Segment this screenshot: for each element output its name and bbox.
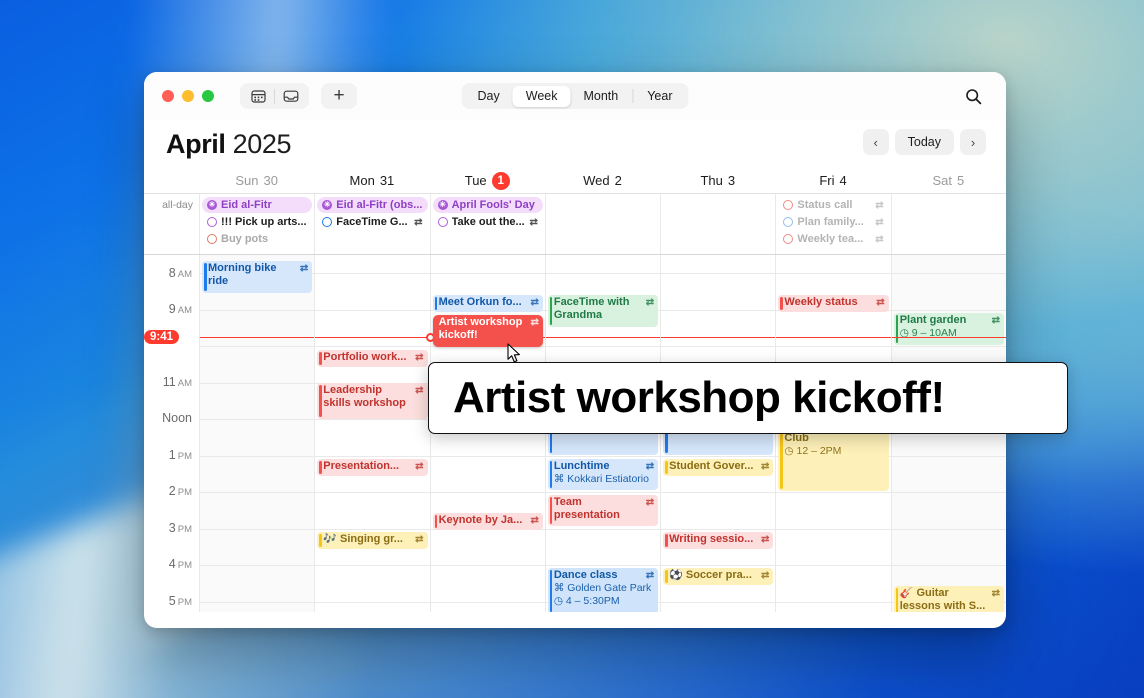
hour-gridline bbox=[892, 310, 1006, 311]
holiday-star-icon: ✳ bbox=[207, 200, 217, 210]
all-day-column-4[interactable] bbox=[660, 194, 775, 254]
view-toggle-group bbox=[240, 83, 309, 109]
event-title-row: Keynote by Ja...⇄ bbox=[439, 514, 539, 527]
view-divider bbox=[632, 89, 633, 103]
all-day-column-2[interactable]: ✳April Fools' DayTake out the...⇄ bbox=[430, 194, 545, 254]
all-day-event[interactable]: ✳Eid al-Fitr bbox=[202, 197, 312, 213]
time-hour: 9 bbox=[169, 302, 176, 316]
calendar-event[interactable]: Plant garden⇄◷ 9 – 10AM bbox=[894, 313, 1004, 345]
time-label: 5PM bbox=[169, 594, 192, 608]
all-day-event[interactable]: Status call⇄ bbox=[778, 197, 888, 213]
calendar-event[interactable]: FaceTime with Grandma⇄ bbox=[548, 295, 658, 327]
event-color-bar bbox=[896, 588, 899, 612]
event-title: Lunchtime bbox=[554, 460, 643, 473]
event-title-row: Artist workshop kickoff!⇄ bbox=[439, 316, 539, 342]
day-name: Tue bbox=[465, 173, 487, 188]
event-title: Portfolio work... bbox=[323, 351, 412, 364]
event-title-row: Student Gover...⇄ bbox=[669, 460, 769, 473]
event-color-bar bbox=[204, 263, 207, 291]
all-day-column-0[interactable]: ✳Eid al-Fitr!!! Pick up arts...Buy pots bbox=[199, 194, 314, 254]
hour-gridline bbox=[315, 346, 429, 347]
hour-gridline bbox=[892, 456, 1006, 457]
view-tab-year[interactable]: Year bbox=[634, 86, 685, 107]
event-color-bar bbox=[435, 297, 438, 310]
time-label: 9AM bbox=[169, 302, 192, 316]
repeat-icon: ⇄ bbox=[646, 460, 654, 473]
event-title: Presentation... bbox=[323, 460, 412, 473]
event-title: Weekly status bbox=[784, 296, 873, 309]
year-label: 2025 bbox=[233, 129, 291, 159]
calendar-event[interactable]: Meet Orkun fo...⇄ bbox=[433, 295, 543, 312]
event-color-bar bbox=[550, 497, 553, 524]
event-title: Meet Orkun fo... bbox=[439, 296, 528, 309]
hour-gridline bbox=[661, 456, 775, 457]
event-title: 🎸 Guitar lessons with S... bbox=[900, 587, 989, 612]
hour-gridline bbox=[546, 529, 660, 530]
calendar-event[interactable]: 🎸 Guitar lessons with S...⇄ bbox=[894, 586, 1004, 612]
all-day-column-1[interactable]: ✳Eid al-Fitr (obs...FaceTime G...⇄ bbox=[314, 194, 429, 254]
repeat-icon: ⇄ bbox=[300, 262, 308, 275]
repeat-icon: ⇄ bbox=[646, 569, 654, 582]
repeat-icon: ⇄ bbox=[876, 296, 884, 309]
calendar-event[interactable]: Team presentation⇄ bbox=[548, 495, 658, 526]
event-title: Student Gover... bbox=[669, 460, 758, 473]
day-header-sun[interactable]: Sun30 bbox=[199, 168, 314, 193]
day-name: Sat bbox=[932, 173, 952, 188]
zoom-button[interactable] bbox=[202, 90, 214, 102]
repeat-icon: ⇄ bbox=[992, 587, 1000, 600]
event-title-row: Dance class⇄ bbox=[554, 569, 654, 582]
today-badge: 1 bbox=[492, 172, 510, 190]
event-title-row: Plant garden⇄ bbox=[900, 314, 1000, 327]
window-titlebar: + Day Week Month Year bbox=[144, 72, 1006, 120]
time-label: 4PM bbox=[169, 557, 192, 571]
current-time-line bbox=[315, 337, 429, 338]
hour-gridline bbox=[315, 492, 429, 493]
event-title: 🎶 Singing gr... bbox=[323, 533, 412, 546]
day-number: 30 bbox=[263, 173, 277, 188]
hour-gridline bbox=[315, 565, 429, 566]
event-color-bar bbox=[550, 461, 553, 488]
repeat-icon: ⇄ bbox=[415, 460, 423, 473]
hour-gridline bbox=[546, 492, 660, 493]
repeat-icon: ⇄ bbox=[761, 569, 769, 582]
hour-gridline bbox=[892, 529, 1006, 530]
time-ampm: AM bbox=[178, 305, 192, 316]
time-label: 3PM bbox=[169, 521, 192, 535]
event-title-row: Writing sessio...⇄ bbox=[669, 533, 769, 546]
time-hour: 3 bbox=[169, 521, 176, 535]
repeat-icon: ⇄ bbox=[415, 533, 423, 546]
repeat-icon: ⇄ bbox=[529, 217, 537, 228]
reminder-circle-icon bbox=[783, 234, 793, 244]
repeat-icon: ⇄ bbox=[530, 514, 538, 527]
hour-gridline bbox=[661, 602, 775, 603]
all-day-event[interactable]: ✳April Fools' Day bbox=[433, 197, 543, 213]
reminder-circle-icon bbox=[783, 217, 793, 227]
hour-gridline bbox=[776, 346, 890, 347]
all-day-columns: ✳Eid al-Fitr!!! Pick up arts...Buy pots✳… bbox=[199, 194, 1006, 254]
calendar-event[interactable]: Lunchtime⇄⌘ Kokkari Estiatorio bbox=[548, 459, 658, 490]
all-day-event[interactable]: Buy pots bbox=[202, 231, 312, 247]
time-axis: 8AM9AM11AMNoon1PM2PM3PM4PM5PM bbox=[144, 255, 199, 612]
repeat-icon: ⇄ bbox=[415, 351, 423, 364]
hour-gridline bbox=[200, 565, 314, 566]
time-hour: 8 bbox=[169, 266, 176, 280]
event-title: ⚽ Soccer pra... bbox=[669, 569, 758, 582]
hour-gridline bbox=[200, 456, 314, 457]
time-label: 8AM bbox=[169, 266, 192, 280]
all-day-label: all-day bbox=[144, 194, 199, 254]
event-time: ◷ 4 – 5:30PM bbox=[554, 595, 654, 608]
hour-gridline bbox=[546, 565, 660, 566]
search-icon[interactable] bbox=[958, 81, 988, 111]
day-column-sun30[interactable]: Morning bike ride⇄ bbox=[199, 255, 314, 612]
calendar-event[interactable]: ⚽ Soccer pra...⇄ bbox=[663, 568, 773, 585]
event-color-bar bbox=[896, 315, 899, 343]
repeat-icon: ⇄ bbox=[530, 296, 538, 309]
event-title: Team presentation bbox=[554, 496, 643, 522]
hour-gridline bbox=[315, 602, 429, 603]
current-time-pill: 9:41 bbox=[144, 330, 179, 344]
all-day-event-title: Plan family... bbox=[797, 216, 871, 228]
event-title: Morning bike ride bbox=[208, 262, 297, 288]
all-day-event-title: Take out the... bbox=[452, 216, 526, 228]
hour-gridline bbox=[315, 310, 429, 311]
event-title: Plant garden bbox=[900, 314, 989, 327]
minimize-button[interactable] bbox=[182, 90, 194, 102]
event-color-bar bbox=[665, 534, 668, 547]
time-hour: 4 bbox=[169, 557, 176, 571]
event-title: Writing sessio... bbox=[669, 533, 758, 546]
repeat-icon: ⇄ bbox=[530, 316, 538, 329]
hour-gridline bbox=[546, 346, 660, 347]
event-title: Dance class bbox=[554, 569, 643, 582]
hour-gridline bbox=[315, 273, 429, 274]
reminder-completed-icon bbox=[207, 234, 217, 244]
hour-gridline bbox=[546, 273, 660, 274]
hour-gridline bbox=[776, 529, 890, 530]
day-header-sat[interactable]: Sat5 bbox=[891, 168, 1006, 193]
all-day-event[interactable]: Weekly tea...⇄ bbox=[778, 231, 888, 247]
hour-gridline bbox=[892, 346, 1006, 347]
hour-gridline bbox=[546, 456, 660, 457]
time-ampm: AM bbox=[178, 269, 192, 280]
time-ampm: PM bbox=[178, 487, 192, 498]
event-title-row: 🎶 Singing gr...⇄ bbox=[323, 533, 423, 546]
time-label: Noon bbox=[162, 411, 192, 425]
month-label: April bbox=[166, 129, 226, 159]
all-day-event[interactable]: ✳Eid al-Fitr (obs... bbox=[317, 197, 427, 213]
hour-gridline bbox=[661, 492, 775, 493]
all-day-event[interactable]: !!! Pick up arts... bbox=[202, 214, 312, 230]
repeat-icon: ⇄ bbox=[414, 217, 422, 228]
repeat-icon: ⇄ bbox=[646, 496, 654, 509]
event-color-bar bbox=[780, 297, 783, 310]
calendar-event[interactable]: Presentation...⇄ bbox=[317, 459, 427, 476]
holiday-star-icon: ✳ bbox=[438, 200, 448, 210]
hour-gridline bbox=[776, 492, 890, 493]
hour-gridline bbox=[661, 310, 775, 311]
event-color-bar bbox=[319, 352, 322, 365]
all-day-event[interactable]: FaceTime G...⇄ bbox=[317, 214, 427, 230]
time-ampm: PM bbox=[178, 597, 192, 608]
time-hour: 5 bbox=[169, 594, 176, 608]
next-week-button[interactable]: › bbox=[960, 129, 986, 155]
day-column-mon31[interactable]: Portfolio work...⇄Leadership skills work… bbox=[314, 255, 429, 612]
view-tab-week[interactable]: Week bbox=[513, 86, 571, 107]
calendar-event[interactable]: Morning bike ride⇄ bbox=[202, 261, 312, 293]
traffic-light-group bbox=[162, 90, 214, 102]
hour-gridline bbox=[315, 456, 429, 457]
event-title-row: Morning bike ride⇄ bbox=[208, 262, 308, 288]
calendar-event[interactable]: Weekly status⇄ bbox=[778, 295, 888, 312]
calendar-header: April 2025 ‹ Today › bbox=[144, 120, 1006, 168]
event-title-row: 🎸 Guitar lessons with S...⇄ bbox=[900, 587, 1000, 612]
all-day-column-5[interactable]: Status call⇄Plan family...⇄Weekly tea...… bbox=[775, 194, 890, 254]
inbox-icon[interactable] bbox=[275, 85, 307, 107]
hour-gridline bbox=[661, 529, 775, 530]
event-subtitle: ⌘ Golden Gate Park bbox=[554, 582, 654, 595]
reminder-circle-icon bbox=[438, 217, 448, 227]
all-day-event[interactable]: Take out the...⇄ bbox=[433, 214, 543, 230]
day-header-row: Sun30Mon31Tue1Wed2Thu3Fri4Sat5 bbox=[144, 168, 1006, 194]
hour-gridline bbox=[431, 602, 545, 603]
event-title: FaceTime with Grandma bbox=[554, 296, 643, 322]
day-number: 2 bbox=[615, 173, 622, 188]
time-ampm: PM bbox=[178, 524, 192, 535]
event-color-bar bbox=[319, 461, 322, 474]
current-time-line bbox=[892, 337, 1006, 338]
time-hour: Noon bbox=[162, 411, 192, 425]
time-ampm: AM bbox=[178, 378, 192, 389]
reminder-circle-icon bbox=[207, 217, 217, 227]
hour-gridline bbox=[431, 492, 545, 493]
day-header-tue[interactable]: Tue1 bbox=[430, 168, 545, 193]
all-day-event[interactable]: Plan family...⇄ bbox=[778, 214, 888, 230]
time-label: 2PM bbox=[169, 484, 192, 498]
hour-gridline bbox=[200, 383, 314, 384]
day-name: Fri bbox=[819, 173, 834, 188]
calendar-event[interactable]: 🎶 Singing gr...⇄ bbox=[317, 532, 427, 549]
all-day-event-title: Status call bbox=[797, 199, 871, 211]
hour-gridline bbox=[200, 419, 314, 420]
hour-gridline bbox=[431, 273, 545, 274]
current-time-line bbox=[661, 337, 775, 338]
add-event-button[interactable]: + bbox=[321, 83, 357, 109]
hour-gridline bbox=[661, 346, 775, 347]
calendar-icon[interactable] bbox=[242, 85, 274, 107]
hour-gridline bbox=[200, 602, 314, 603]
hour-gridline bbox=[776, 602, 890, 603]
previous-week-button[interactable]: ‹ bbox=[863, 129, 889, 155]
day-header-thu[interactable]: Thu3 bbox=[660, 168, 775, 193]
current-time-line bbox=[200, 337, 314, 338]
calendar-event[interactable]: Student Gover...⇄ bbox=[663, 459, 773, 476]
event-title-row: Team presentation⇄ bbox=[554, 496, 654, 522]
time-hour: 11 bbox=[163, 375, 176, 389]
hour-gridline bbox=[431, 456, 545, 457]
event-title-row: Portfolio work...⇄ bbox=[323, 351, 423, 364]
all-day-event-title: !!! Pick up arts... bbox=[221, 216, 307, 228]
view-tab-month[interactable]: Month bbox=[570, 86, 631, 107]
day-header-fri[interactable]: Fri4 bbox=[775, 168, 890, 193]
current-time-line bbox=[776, 337, 890, 338]
hour-gridline bbox=[200, 310, 314, 311]
event-title-row: Presentation...⇄ bbox=[323, 460, 423, 473]
day-name: Sun bbox=[235, 173, 258, 188]
day-number: 5 bbox=[957, 173, 964, 188]
hour-gridline bbox=[776, 273, 890, 274]
event-color-bar bbox=[435, 515, 438, 528]
close-button[interactable] bbox=[162, 90, 174, 102]
time-label: 1PM bbox=[169, 448, 192, 462]
event-title-row: Weekly status⇄ bbox=[784, 296, 884, 309]
hour-gridline bbox=[776, 565, 890, 566]
time-hour: 1 bbox=[169, 448, 176, 462]
day-name: Mon bbox=[350, 173, 375, 188]
hour-gridline bbox=[892, 565, 1006, 566]
repeat-icon: ⇄ bbox=[875, 234, 883, 245]
event-title-row: Meet Orkun fo...⇄ bbox=[439, 296, 539, 309]
repeat-icon: ⇄ bbox=[646, 296, 654, 309]
reminder-circle-icon bbox=[783, 200, 793, 210]
calendar-window: + Day Week Month Year April 2025 ‹ Today… bbox=[144, 72, 1006, 628]
time-hour: 2 bbox=[169, 484, 176, 498]
all-day-column-6[interactable] bbox=[891, 194, 1006, 254]
hour-gridline bbox=[661, 273, 775, 274]
hour-gridline bbox=[200, 346, 314, 347]
all-day-event-title: April Fools' Day bbox=[452, 199, 538, 211]
all-day-event-title: FaceTime G... bbox=[336, 216, 410, 228]
page-title: April 2025 bbox=[166, 129, 291, 160]
event-title-row: ⚽ Soccer pra...⇄ bbox=[669, 569, 769, 582]
calendar-event[interactable]: Artist workshop kickoff!⇄ bbox=[433, 315, 543, 347]
event-title-row: Leadership skills workshop⇄ bbox=[323, 384, 423, 410]
repeat-icon: ⇄ bbox=[761, 533, 769, 546]
hour-gridline bbox=[315, 529, 429, 530]
day-number: 31 bbox=[380, 173, 394, 188]
date-navigation: ‹ Today › bbox=[863, 129, 986, 155]
hour-gridline bbox=[200, 529, 314, 530]
event-subtitle: ⌘ Kokkari Estiatorio bbox=[554, 473, 654, 486]
view-segmented-control: Day Week Month Year bbox=[462, 83, 689, 109]
day-number: 4 bbox=[840, 173, 847, 188]
event-title: Artist workshop kickoff! bbox=[439, 316, 528, 342]
repeat-icon: ⇄ bbox=[875, 217, 883, 228]
time-ampm: PM bbox=[178, 451, 192, 462]
repeat-icon: ⇄ bbox=[875, 200, 883, 211]
repeat-icon: ⇄ bbox=[992, 314, 1000, 327]
event-title: Leadership skills workshop bbox=[323, 384, 412, 410]
calendar-event[interactable]: Dance class⇄⌘ Golden Gate Park◷ 4 – 5:30… bbox=[548, 568, 658, 612]
calendar-event[interactable]: Leadership skills workshop⇄ bbox=[317, 383, 427, 419]
hour-gridline bbox=[892, 273, 1006, 274]
all-day-event-title: Weekly tea... bbox=[797, 233, 871, 245]
hour-gridline bbox=[315, 419, 429, 420]
calendar-event[interactable]: Keynote by Ja...⇄ bbox=[433, 513, 543, 530]
event-subtitle: ◷ 12 – 2PM bbox=[784, 445, 884, 458]
day-header-wed[interactable]: Wed2 bbox=[545, 168, 660, 193]
today-button[interactable]: Today bbox=[895, 129, 954, 155]
event-color-bar bbox=[550, 570, 553, 612]
event-title-row: Lunchtime⇄ bbox=[554, 460, 654, 473]
event-color-bar bbox=[319, 385, 322, 417]
event-color-bar bbox=[550, 297, 553, 325]
holiday-star-icon: ✳ bbox=[322, 200, 332, 210]
repeat-icon: ⇄ bbox=[415, 384, 423, 397]
day-name: Thu bbox=[700, 173, 722, 188]
repeat-icon: ⇄ bbox=[761, 460, 769, 473]
all-day-column-3[interactable] bbox=[545, 194, 660, 254]
time-label: 11AM bbox=[163, 375, 192, 389]
event-subtitle: ◷ 9 – 10AM bbox=[900, 327, 1000, 340]
all-day-row: all-day ✳Eid al-Fitr!!! Pick up arts...B… bbox=[144, 194, 1006, 255]
view-tab-day[interactable]: Day bbox=[465, 86, 513, 107]
current-time-line bbox=[546, 337, 660, 338]
time-ampm: PM bbox=[178, 560, 192, 571]
day-header-mon[interactable]: Mon31 bbox=[314, 168, 429, 193]
event-color-bar bbox=[319, 534, 322, 547]
all-day-event-title: Eid al-Fitr (obs... bbox=[336, 199, 422, 211]
day-number: 3 bbox=[728, 173, 735, 188]
event-color-bar bbox=[665, 570, 668, 583]
hour-gridline bbox=[431, 565, 545, 566]
all-day-event-title: Eid al-Fitr bbox=[221, 199, 307, 211]
day-name: Wed bbox=[583, 173, 610, 188]
calendar-event[interactable]: Portfolio work...⇄ bbox=[317, 350, 427, 367]
all-day-event-title: Buy pots bbox=[221, 233, 307, 245]
event-color-bar bbox=[665, 461, 668, 474]
hour-gridline bbox=[661, 565, 775, 566]
event-title-row: FaceTime with Grandma⇄ bbox=[554, 296, 654, 322]
reminder-circle-icon bbox=[322, 217, 332, 227]
event-title-tooltip: Artist workshop kickoff! bbox=[428, 362, 1068, 434]
event-title: Keynote by Ja... bbox=[439, 514, 528, 527]
calendar-event[interactable]: Writing sessio...⇄ bbox=[663, 532, 773, 549]
hour-gridline bbox=[892, 492, 1006, 493]
hour-gridline bbox=[200, 492, 314, 493]
